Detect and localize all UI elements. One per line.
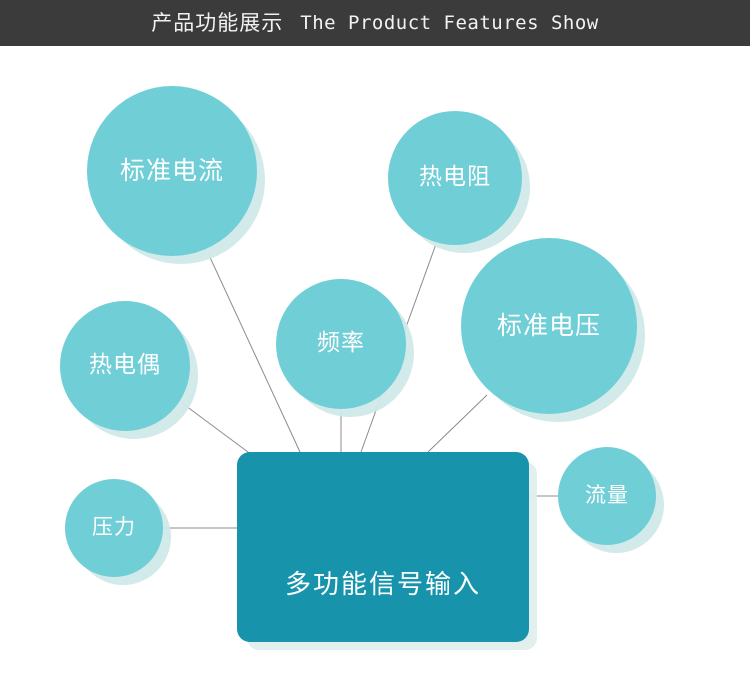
diagram-node-7[interactable]: 流量 bbox=[558, 447, 656, 545]
diagram-node-label: 流量 bbox=[585, 484, 629, 507]
page-header: 产品功能展示 The Product Features Show bbox=[0, 0, 750, 46]
header-title-cn: 产品功能展示 bbox=[151, 13, 283, 34]
connector-line bbox=[428, 395, 487, 452]
diagram-node-label: 热电阻 bbox=[419, 165, 491, 190]
diagram-node-1[interactable]: 标准电流 bbox=[87, 86, 257, 256]
diagram-node-2[interactable]: 热电阻 bbox=[388, 111, 522, 245]
diagram-node-label: 热电偶 bbox=[89, 353, 161, 378]
diagram-canvas: 标准电流热电阻热电偶频率标准电压压力流量多功能信号输入 bbox=[0, 46, 750, 673]
diagram-node-label: 标准电压 bbox=[497, 312, 601, 340]
diagram-node-5[interactable]: 标准电压 bbox=[461, 238, 637, 414]
diagram-node-4[interactable]: 频率 bbox=[276, 279, 406, 409]
diagram-node-6[interactable]: 压力 bbox=[65, 479, 163, 577]
connector-line bbox=[182, 403, 252, 455]
diagram-node-label: 压力 bbox=[92, 516, 136, 539]
diagram-node-label: 标准电流 bbox=[120, 157, 224, 185]
diagram-node-label: 频率 bbox=[317, 331, 365, 356]
diagram-center-hub[interactable]: 多功能信号输入 bbox=[237, 452, 529, 642]
diagram-node-3[interactable]: 热电偶 bbox=[60, 301, 190, 431]
product-features-page: 产品功能展示 The Product Features Show 标准电流热电阻… bbox=[0, 0, 750, 673]
header-title-en: The Product Features Show bbox=[300, 14, 598, 33]
diagram-center-label: 多功能信号输入 bbox=[285, 571, 481, 600]
